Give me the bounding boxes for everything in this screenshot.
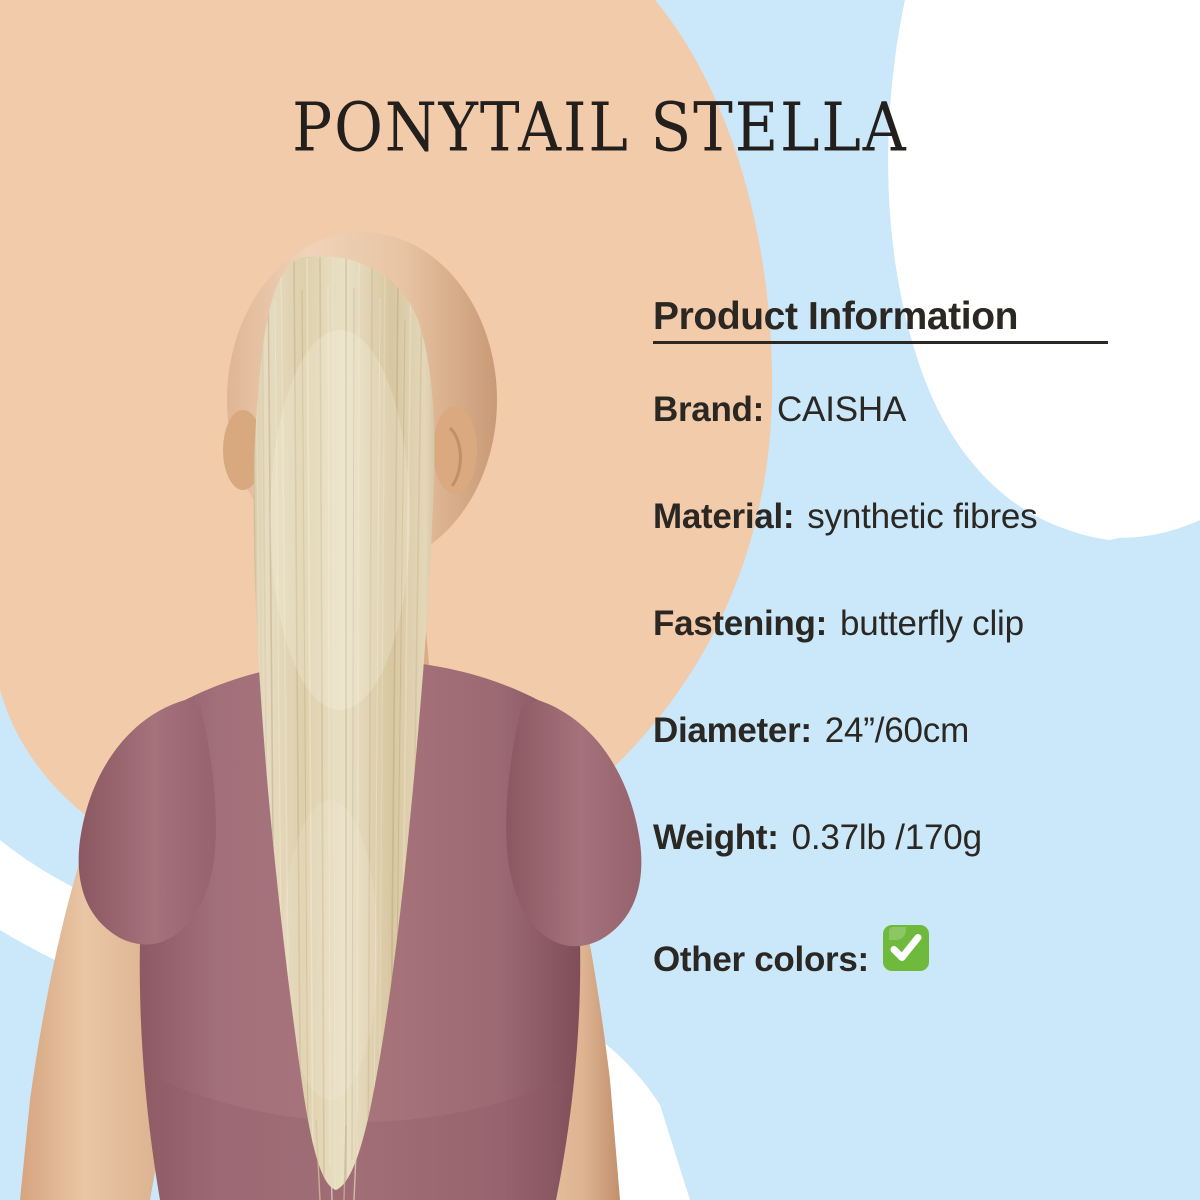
info-row-material: Material: synthetic fibres (653, 497, 1193, 604)
page-title-text: PONYTAIL STELLA (292, 94, 907, 162)
info-label-weight: Weight: (653, 818, 779, 858)
info-value-fastening: butterfly clip (840, 604, 1024, 644)
page-title: PONYTAIL STELLA (0, 96, 1200, 160)
info-row-other-colors: Other colors: (653, 925, 1193, 1032)
product-infographic: PONYTAIL STELLA Product Information Bran… (0, 0, 1200, 1200)
info-heading: Product Information (653, 296, 1193, 338)
info-label-material: Material: (653, 497, 794, 537)
white-check-mark-badge-icon (883, 925, 929, 971)
info-row-fastening: Fastening: butterfly clip (653, 604, 1193, 711)
info-label-fastening: Fastening: (653, 604, 827, 644)
info-value-diameter: 24”/60cm (825, 711, 969, 751)
info-row-diameter: Diameter: 24”/60cm (653, 711, 1193, 818)
info-row-weight: Weight: 0.37lb /170g (653, 818, 1193, 925)
info-row-brand: Brand: CAISHA (653, 390, 1193, 497)
info-rows: Brand: CAISHA Material: synthetic fibres… (653, 390, 1193, 1032)
info-heading-underline (653, 341, 1108, 344)
info-value-brand: CAISHA (777, 390, 906, 430)
info-label-diameter: Diameter: (653, 711, 812, 751)
info-value-material: synthetic fibres (807, 497, 1037, 537)
product-information-panel: Product Information Brand: CAISHA Materi… (653, 296, 1193, 1032)
info-label-other-colors: Other colors: (653, 940, 869, 980)
info-value-weight: 0.37lb /170g (792, 818, 982, 858)
info-label-brand: Brand: (653, 390, 764, 430)
